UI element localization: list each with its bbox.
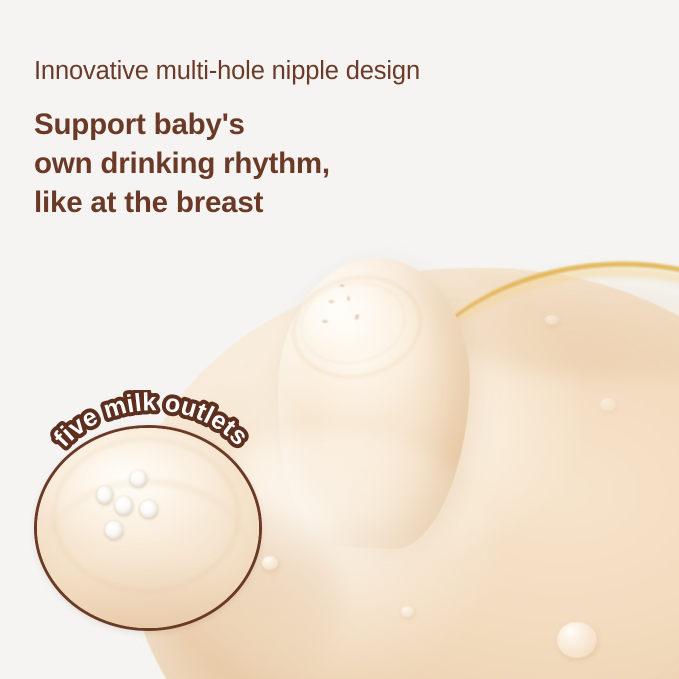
product-feature-image: five milk outlets five milk outlets Inno… — [0, 0, 679, 679]
headline-line: Support baby's — [34, 105, 420, 144]
headline-line: own drinking rhythm, — [34, 144, 420, 183]
vent-bump — [262, 556, 278, 570]
vent-bump — [401, 606, 414, 617]
teat-tip-hole-mark — [340, 284, 344, 287]
milk-outlet-hole — [130, 470, 147, 487]
headline-line: like at the breast — [34, 183, 420, 222]
teat-tip-hole-mark — [322, 320, 328, 323]
vent-bump — [545, 315, 559, 325]
magnifier-circle — [34, 425, 262, 631]
milk-outlet-hole — [105, 521, 123, 539]
headline-block: Innovative multi-hole nipple design Supp… — [34, 56, 420, 222]
vent-bump — [557, 622, 597, 658]
magnifier-callout: five milk outlets five milk outlets — [33, 412, 259, 638]
teat-tip-hole-mark — [347, 296, 350, 301]
page-title: Support baby's own drinking rhythm, like… — [34, 105, 420, 223]
vent-bump — [600, 398, 616, 411]
magnified-bottom-shadow — [34, 548, 262, 631]
milk-outlet-hole — [140, 500, 158, 518]
milk-outlet-hole — [115, 496, 133, 515]
subtitle: Innovative multi-hole nipple design — [34, 56, 420, 87]
teat-tip-hole-mark — [329, 300, 334, 303]
milk-outlet-hole — [97, 486, 113, 504]
